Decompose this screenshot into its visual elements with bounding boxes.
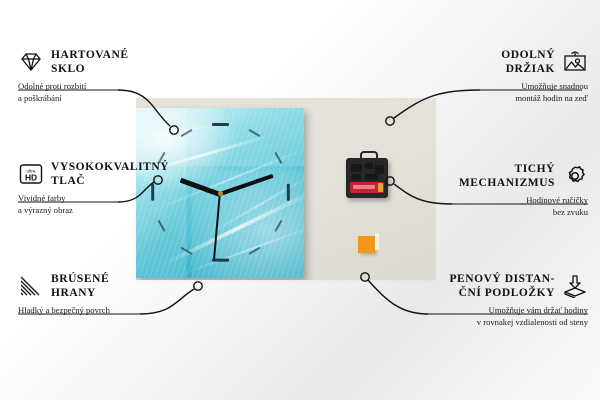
feature-title: HARTOVANÉ SKLO xyxy=(51,48,129,76)
feature-description: Vividné farby a výrazný obraz xyxy=(18,193,188,216)
foam-pad-icon xyxy=(562,274,588,298)
mechanism-slot xyxy=(375,165,384,174)
foam-spacer-pad xyxy=(358,236,375,253)
feature-description: Odolné proti rozbití a poškrábání xyxy=(18,81,188,104)
diamond-icon xyxy=(18,50,44,74)
feature-header: TICHÝ MECHANIZMUS xyxy=(413,162,588,190)
foam-pad-highlight xyxy=(375,233,379,250)
battery-positive-terminal xyxy=(378,183,383,192)
svg-text:HD: HD xyxy=(25,172,37,182)
mechanism-slot xyxy=(351,164,362,172)
feature-header: HARTOVANÉ SKLO xyxy=(18,48,188,76)
feature-silent-mechanism: TICHÝ MECHANIZMUS Hodinové ručičky bez z… xyxy=(413,162,588,218)
feature-title: VYSOKOKVALITNÝ TLAČ xyxy=(51,160,169,188)
feature-beveled-edges: BRÚSENÉ HRANY Hladký a bezpečný povrch xyxy=(18,272,188,317)
feature-foam-spacers: PENOVÝ DISTAN- ČNÍ PODLOŽKY Umožňuje vám… xyxy=(413,272,588,328)
feature-durable-hanger: ODOLNÝ DRŽIAK Umožňuje snadnou montáž ho… xyxy=(413,48,588,104)
feature-header: ODOLNÝ DRŽIAK xyxy=(413,48,588,76)
battery-label xyxy=(353,185,375,189)
mechanism-hanger-hook xyxy=(360,151,378,162)
feature-header: PENOVÝ DISTAN- ČNÍ PODLOŽKY xyxy=(413,272,588,300)
mechanism-slot xyxy=(352,174,361,180)
feature-title: TICHÝ MECHANIZMUS xyxy=(459,162,555,190)
mechanism-slot xyxy=(365,174,378,180)
feature-description: Hladký a bezpečný povrch xyxy=(18,305,188,317)
mechanism-slot xyxy=(365,163,373,169)
feature-title: ODOLNÝ DRŽIAK xyxy=(501,48,555,76)
clock-mechanism xyxy=(346,158,388,198)
clock-tick xyxy=(287,184,290,201)
feature-description: Hodinové ručičky bez zvuku xyxy=(413,195,588,218)
gear-icon xyxy=(562,164,588,188)
feature-high-quality-print: ultra HD VYSOKOKVALITNÝ TLAČ Vividné far… xyxy=(18,160,188,216)
beveled-edge-icon xyxy=(18,274,44,298)
clock-tick xyxy=(212,123,229,126)
feature-description: Umožňuje vám držať hodiny v rovnakej vzd… xyxy=(413,305,588,328)
infographic-canvas: HARTOVANÉ SKLO Odolné proti rozbití a po… xyxy=(0,0,600,400)
feature-title: PENOVÝ DISTAN- ČNÍ PODLOŽKY xyxy=(449,272,555,300)
feature-title: BRÚSENÉ HRANY xyxy=(51,272,109,300)
picture-frame-icon xyxy=(562,50,588,74)
feature-header: ultra HD VYSOKOKVALITNÝ TLAČ xyxy=(18,160,188,188)
mechanism-battery xyxy=(350,182,384,193)
connector-endpoint xyxy=(194,282,202,290)
feature-tempered-glass: HARTOVANÉ SKLO Odolné proti rozbití a po… xyxy=(18,48,188,104)
feature-description: Umožňuje snadnou montáž hodin na zeď xyxy=(413,81,588,104)
ultra-hd-icon: ultra HD xyxy=(18,162,44,186)
feature-header: BRÚSENÉ HRANY xyxy=(18,272,188,300)
clock-center-pin xyxy=(218,191,223,196)
